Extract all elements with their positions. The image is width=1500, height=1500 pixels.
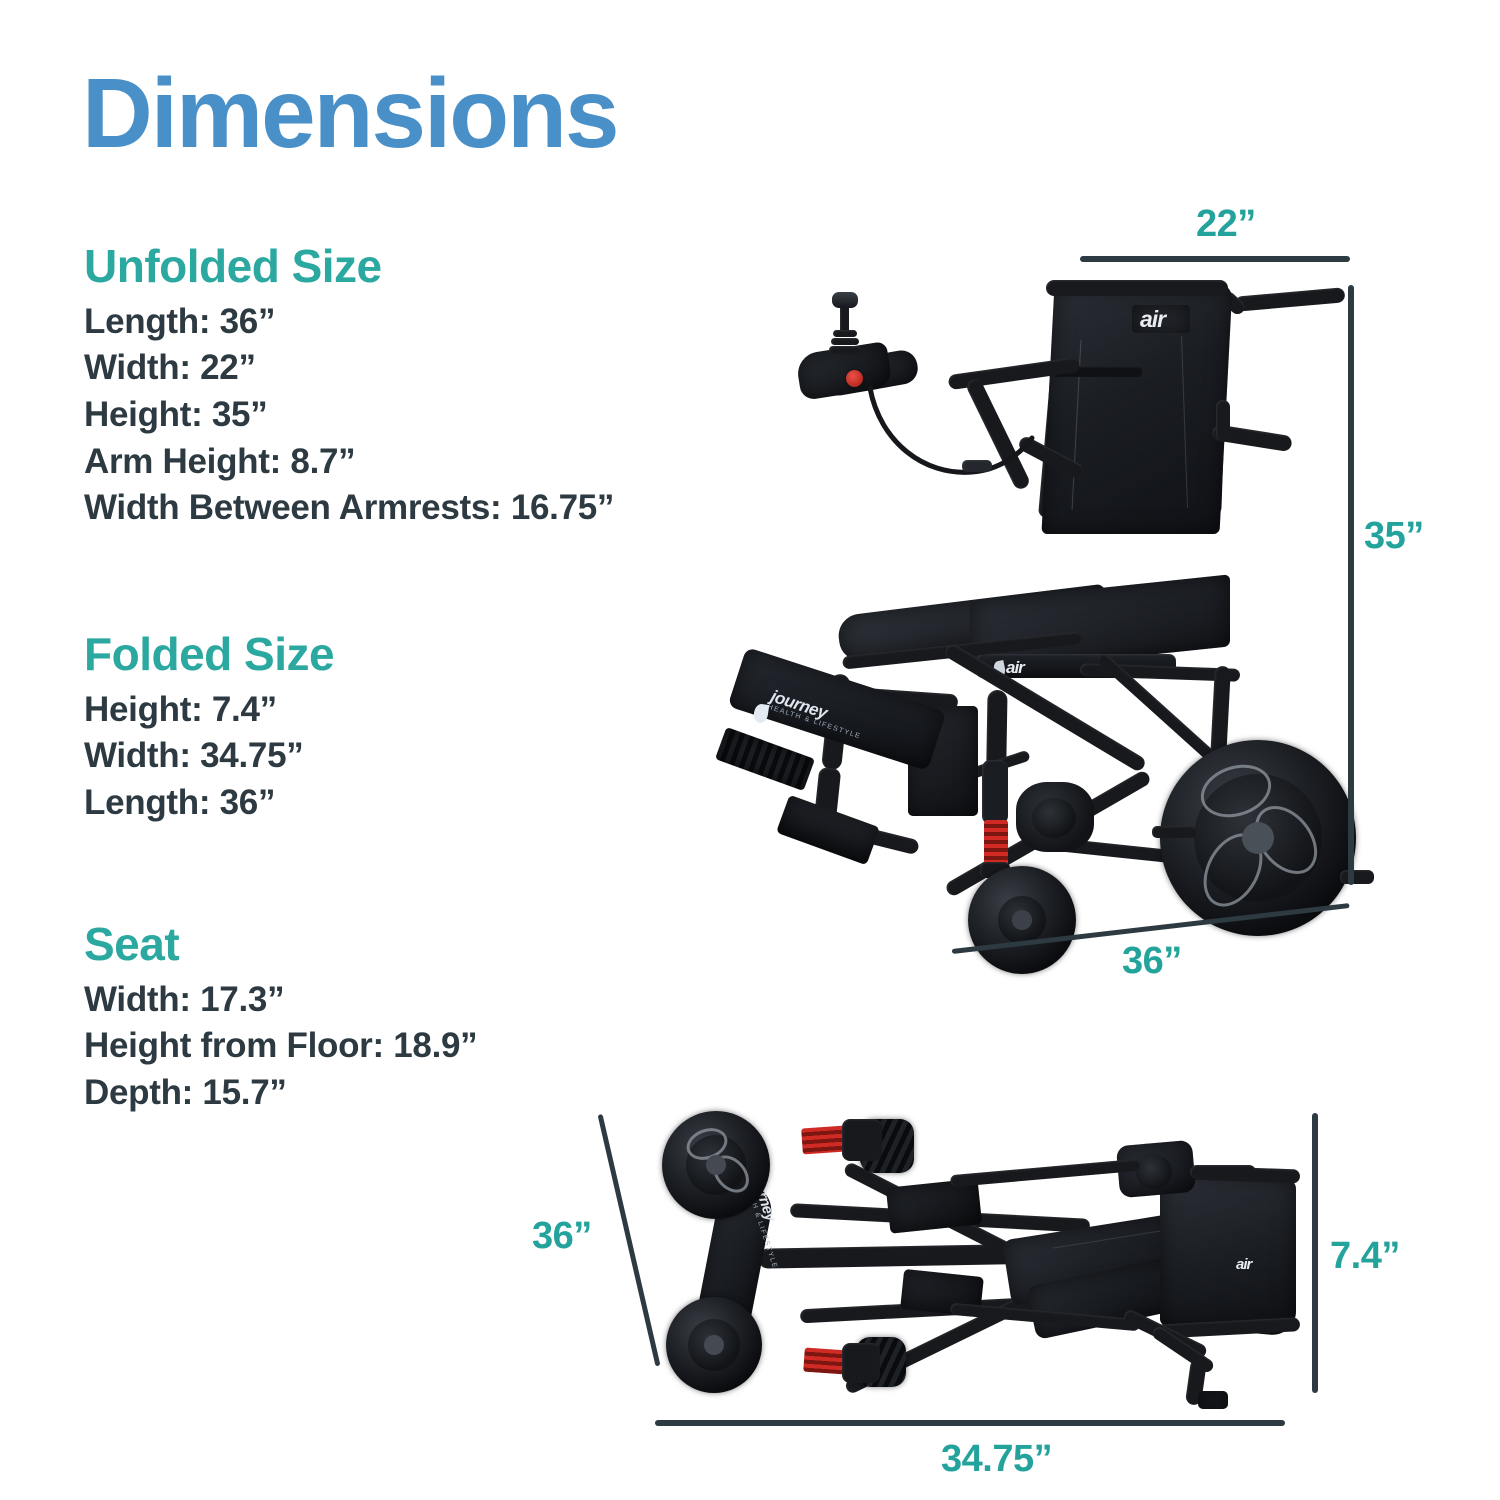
spec-line: Height from Floor: 18.9”	[84, 1023, 477, 1070]
dimension-label-folded-width-3475: 34.75”	[941, 1438, 1052, 1481]
dimension-label-folded-height-74: 7.4”	[1330, 1235, 1400, 1278]
infographic-page: Dimensions Unfolded Size Length: 36” Wid…	[0, 0, 1500, 1500]
folded-spring-bottom	[803, 1348, 847, 1375]
spec-heading-folded: Folded Size	[84, 628, 334, 681]
spec-line: Depth: 15.7”	[84, 1070, 477, 1117]
spec-line: Width: 22”	[84, 345, 614, 392]
folded-wheel-top	[662, 1111, 770, 1219]
dimension-label-length-36: 36”	[1122, 940, 1182, 983]
dimension-line-width-22	[1080, 256, 1350, 262]
suspension-spring	[984, 820, 1008, 866]
spec-heading-seat: Seat	[84, 918, 477, 971]
dimension-label-folded-length-36: 36”	[532, 1215, 592, 1258]
dimension-line-folded-width-3475	[655, 1420, 1285, 1426]
joystick-cable	[850, 380, 1050, 490]
folded-spring-top	[801, 1125, 847, 1154]
spec-line: Length: 36”	[84, 299, 614, 346]
product-image-folded: journey HEALTH & LIFESTYLE	[650, 1105, 1310, 1405]
spec-group-seat: Seat Width: 17.3” Height from Floor: 18.…	[84, 918, 477, 1117]
dimension-label-height-35: 35”	[1364, 515, 1424, 558]
spec-heading-unfolded: Unfolded Size	[84, 240, 614, 293]
folded-wheel-bottom	[666, 1297, 762, 1393]
air-logo-seat-rail: air	[1006, 659, 1024, 676]
product-image-unfolded: air	[780, 270, 1370, 910]
dimension-label-width-22: 22”	[1196, 203, 1256, 246]
spec-line: Height: 35”	[84, 392, 614, 439]
dimension-line-height-35	[1348, 285, 1354, 885]
spec-group-folded: Folded Size Height: 7.4” Width: 34.75” L…	[84, 628, 334, 827]
dimension-line-folded-height-74	[1312, 1113, 1318, 1393]
page-title: Dimensions	[82, 62, 617, 165]
spec-line: Arm Height: 8.7”	[84, 439, 614, 486]
front-caster-wheel	[968, 866, 1076, 974]
air-logo-backrest: air	[1140, 308, 1165, 331]
spec-line: Width: 17.3”	[84, 977, 477, 1024]
spec-line: Width: 34.75”	[84, 733, 334, 780]
spec-line: Height: 7.4”	[84, 687, 334, 734]
spec-line: Length: 36”	[84, 780, 334, 827]
air-logo-folded: air	[1236, 1257, 1251, 1272]
spec-line: Width Between Armrests: 16.75”	[84, 485, 614, 532]
spec-group-unfolded: Unfolded Size Length: 36” Width: 22” Hei…	[84, 240, 614, 532]
